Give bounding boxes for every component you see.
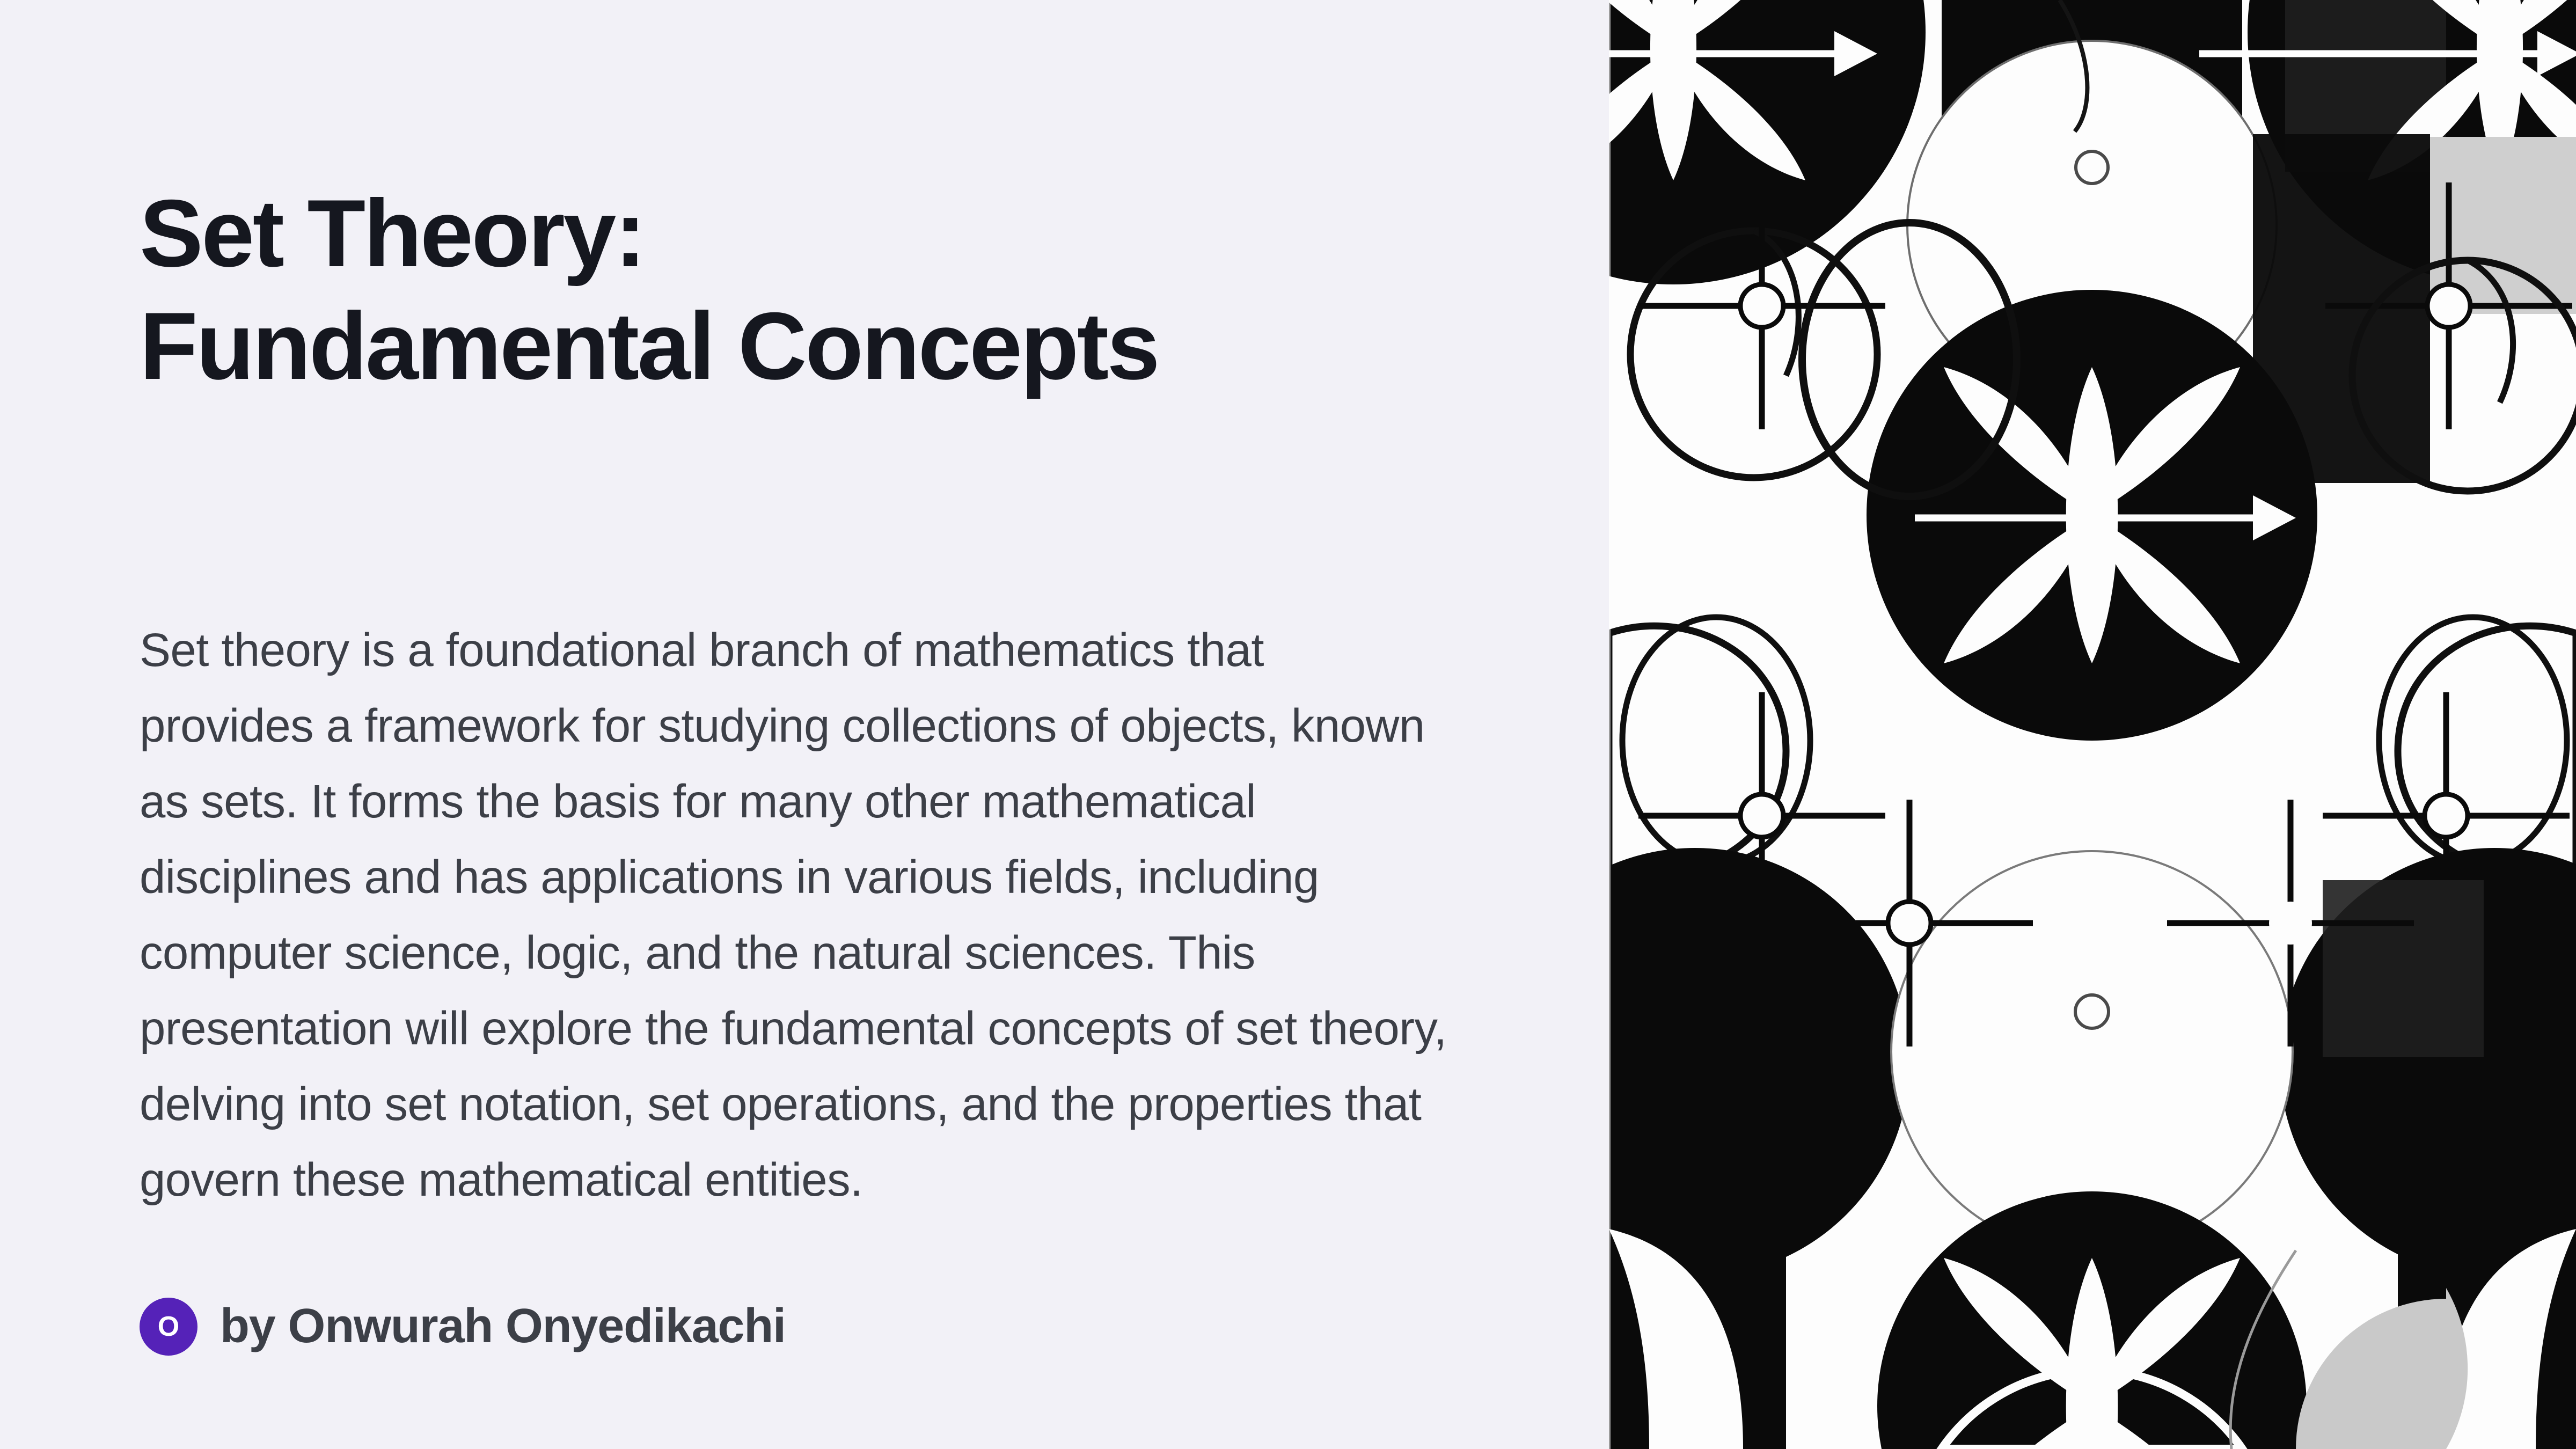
content-panel: Set Theory: Fundamental Concepts Set the…: [0, 0, 1609, 1449]
byline: O by Onwurah Onyedikachi: [140, 1298, 1448, 1356]
title-slide: Set Theory: Fundamental Concepts Set the…: [0, 0, 2576, 1449]
author-name: by Onwurah Onyedikachi: [220, 1299, 786, 1354]
decorative-artwork: [1609, 0, 2576, 1449]
geometric-pattern-svg: [1609, 0, 2576, 1449]
avatar: O: [140, 1298, 197, 1356]
page-title: Set Theory: Fundamental Concepts: [140, 177, 1448, 402]
title-line-2: Fundamental Concepts: [140, 290, 1448, 402]
art-row-5: [1609, 1191, 2576, 1449]
avatar-initial: O: [158, 1313, 179, 1341]
intro-paragraph: Set theory is a foundational branch of m…: [140, 613, 1448, 1218]
title-line-1: Set Theory:: [140, 177, 1448, 290]
